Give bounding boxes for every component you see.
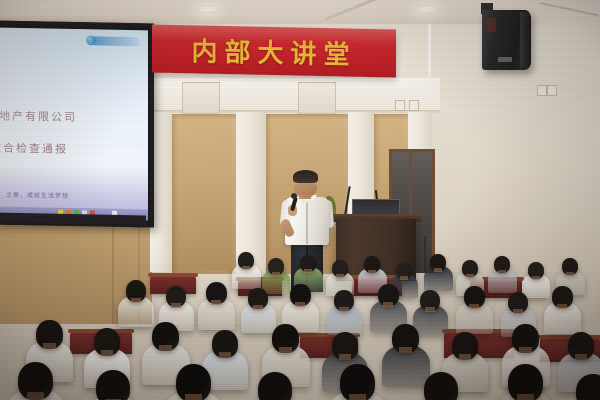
- audience-neck: [242, 266, 250, 270]
- audience-neck: [517, 394, 534, 400]
- audience-neck: [185, 394, 202, 400]
- audience-neck: [557, 304, 567, 309]
- audience-neck: [211, 300, 221, 305]
- audience-neck: [349, 394, 366, 400]
- microphone-head: [291, 193, 297, 199]
- audience-neck: [566, 272, 574, 276]
- speaker-port: [487, 18, 496, 32]
- banner-text: 内部大讲堂: [152, 30, 396, 72]
- audience-neck: [131, 298, 141, 303]
- chair-top-rail: [148, 273, 198, 277]
- audience-neck: [519, 347, 532, 353]
- ceiling-downlight: [414, 5, 438, 13]
- wall-switch[interactable]: [395, 100, 405, 111]
- red-banner: 内部大讲堂: [152, 24, 396, 77]
- audience-neck: [295, 302, 305, 307]
- audience-neck: [279, 347, 292, 353]
- audience: [0, 236, 600, 400]
- audience-neck: [101, 350, 113, 356]
- audience-neck: [434, 268, 442, 272]
- wall-switch[interactable]: [537, 85, 547, 96]
- audience-neck: [383, 302, 393, 307]
- screen-glare: [0, 28, 148, 221]
- audience-neck: [219, 352, 231, 358]
- lecture-hall-photo: 房地产有限公司 综合检查通报 之美，成就生活梦想 内部大讲堂: [0, 0, 600, 400]
- projected-slide: 房地产有限公司 综合检查通报 之美，成就生活梦想: [0, 28, 148, 221]
- projection-screen: 房地产有限公司 综合检查通报 之美，成就生活梦想: [0, 20, 154, 227]
- audience-neck: [272, 272, 280, 276]
- audience-head: [258, 372, 292, 400]
- audience-neck: [339, 307, 349, 312]
- audience-neck: [513, 309, 523, 314]
- audience-neck: [159, 345, 172, 351]
- audience-neck: [575, 354, 587, 360]
- ceiling-downlight: [196, 5, 220, 13]
- audience-neck: [253, 305, 263, 310]
- audience-neck: [336, 274, 344, 278]
- audience-neck: [532, 276, 540, 280]
- audience-neck: [43, 343, 56, 349]
- air-vent: [298, 82, 336, 114]
- presenter-hair: [293, 170, 318, 183]
- audience-neck: [399, 347, 412, 353]
- audience-head: [96, 370, 130, 400]
- wall-speaker-side: [520, 12, 531, 68]
- audience-neck: [368, 270, 376, 274]
- audience-neck: [171, 303, 181, 308]
- audience-neck: [304, 269, 312, 273]
- air-vent: [182, 82, 220, 114]
- audience-neck: [27, 392, 44, 400]
- audience-neck: [498, 270, 506, 274]
- audience-neck: [425, 307, 435, 312]
- audience-head: [424, 372, 458, 400]
- wall-switch[interactable]: [409, 100, 419, 111]
- presenter-face-shadow: [294, 183, 317, 195]
- audience-neck: [469, 304, 479, 309]
- audience-neck: [466, 274, 474, 278]
- wall-switch[interactable]: [547, 85, 557, 96]
- audience-neck: [459, 354, 471, 360]
- speaker-badge: [498, 57, 512, 62]
- audience-neck: [339, 354, 351, 360]
- audience-neck: [400, 276, 408, 280]
